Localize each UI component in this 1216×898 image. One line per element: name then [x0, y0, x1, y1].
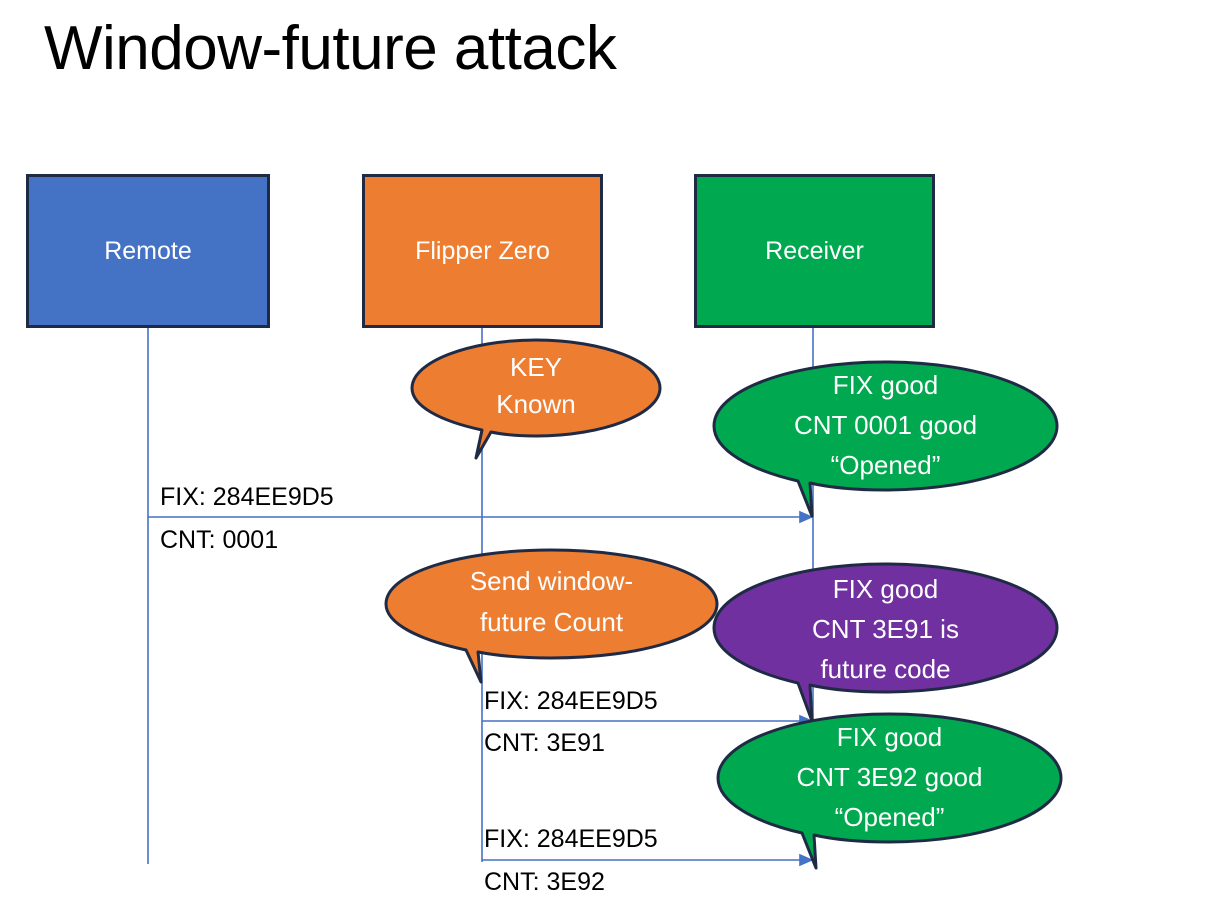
- actor-label-flipper-zero: Flipper Zero: [415, 236, 550, 266]
- actor-box-flipper-zero[interactable]: Flipper Zero: [362, 174, 603, 328]
- callout-bubble-shape: [412, 340, 660, 458]
- page-title: Window-future attack: [44, 10, 616, 88]
- actor-box-receiver[interactable]: Receiver: [694, 174, 935, 328]
- message-1-fix-label: FIX: 284EE9D5: [160, 481, 334, 513]
- message-2-fix-label: FIX: 284EE9D5: [484, 685, 658, 717]
- callout-key-known[interactable]: KEY Known: [410, 338, 662, 466]
- callout-send-window-future-count[interactable]: Send window- future Count: [384, 548, 719, 685]
- message-1-cnt-label: CNT: 0001: [160, 524, 278, 556]
- callout-bubble-shape: [714, 564, 1057, 721]
- message-3-cnt-label: CNT: 3E92: [484, 866, 605, 898]
- callout-fix-good-cnt-0001[interactable]: FIX good CNT 0001 good “Opened”: [712, 360, 1059, 520]
- actor-label-remote: Remote: [104, 236, 192, 266]
- callout-fix-good-cnt-3e92[interactable]: FIX good CNT 3E92 good “Opened”: [716, 712, 1063, 872]
- message-3-fix-label: FIX: 284EE9D5: [484, 823, 658, 855]
- actor-label-receiver: Receiver: [765, 236, 864, 266]
- callout-bubble-shape: [386, 550, 717, 682]
- message-2-cnt-label: CNT: 3E91: [484, 727, 605, 759]
- actor-box-remote[interactable]: Remote: [26, 174, 270, 328]
- callout-bubble-shape: [718, 714, 1061, 868]
- slide-canvas: Window-future attack Remote Flipper Zero…: [0, 0, 1216, 898]
- callout-cnt-3e91-future-code[interactable]: FIX good CNT 3E91 is future code: [712, 562, 1059, 725]
- callout-bubble-shape: [714, 362, 1057, 516]
